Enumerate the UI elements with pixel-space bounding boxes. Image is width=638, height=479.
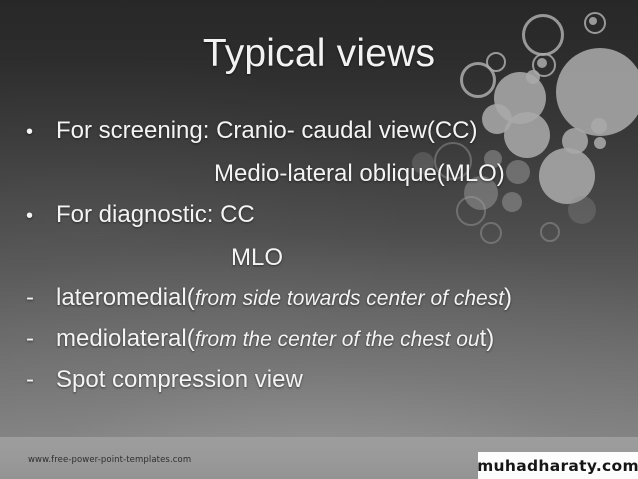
brand-badge: muhadharaty.com <box>478 452 638 479</box>
bullet-text: For diagnostic: CC <box>56 194 255 235</box>
bullet-dot-icon: • <box>26 196 56 237</box>
dash-line: - mediolateral( from the center of the c… <box>26 319 626 360</box>
bullet-line-continuation: MLO <box>26 237 626 278</box>
dash-text: lateromedial( <box>56 278 195 318</box>
brand-label: muhadharaty.com <box>477 457 638 475</box>
dash-text-tail: t) <box>480 319 495 359</box>
slide-body-content: • For screening: Cranio- caudal view(CC)… <box>26 110 626 400</box>
bullet-dot-icon: • <box>26 112 56 153</box>
bullet-text: MLO <box>231 237 283 278</box>
bullet-text: For screening: Cranio- caudal view(CC) <box>56 110 477 151</box>
template-url-label: www.free-power-point-templates.com <box>28 455 191 465</box>
dash-marker-icon: - <box>26 360 56 400</box>
presentation-slide: Typical views • For screening: Cranio- c… <box>0 0 638 479</box>
footer-band: www.free-power-point-templates.com muhad… <box>0 437 638 479</box>
dash-marker-icon: - <box>26 319 56 359</box>
dash-text: Spot compression view <box>56 360 303 400</box>
bullet-line: • For diagnostic: CC <box>26 194 626 237</box>
bubble-circle-icon <box>589 17 597 25</box>
bullet-text: Medio-lateral oblique(MLO) <box>214 153 505 194</box>
bullet-line-continuation: Medio-lateral oblique(MLO) <box>26 153 626 194</box>
dash-line: - lateromedial( from side towards center… <box>26 278 626 319</box>
dash-text-italic: from side towards center of chest <box>195 279 504 319</box>
dash-text-italic: from the center of the chest ou <box>195 320 480 360</box>
dash-text: mediolateral( <box>56 319 195 359</box>
bullet-line: • For screening: Cranio- caudal view(CC) <box>26 110 626 153</box>
dash-line: - Spot compression view <box>26 360 626 400</box>
dash-marker-icon: - <box>26 278 56 318</box>
dash-text-tail: ) <box>504 278 512 318</box>
slide-title: Typical views <box>0 31 638 77</box>
